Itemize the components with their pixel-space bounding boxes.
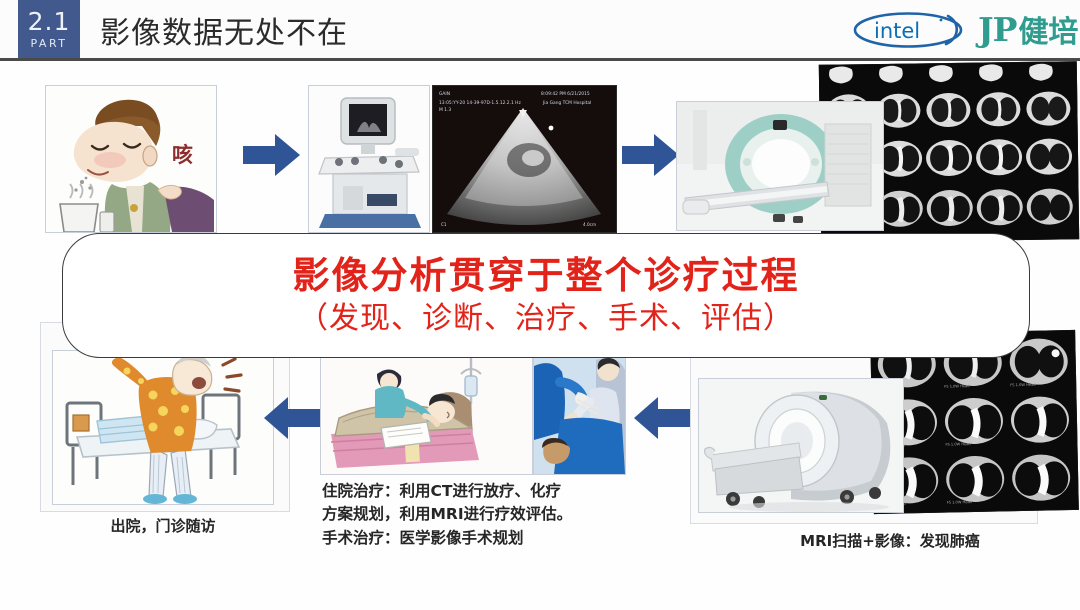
image-inpatient-cartoon	[320, 355, 533, 475]
image-ultrasound-machine	[308, 85, 430, 233]
callout-line-2: （发现、诊断、治疗、手术、评估）	[298, 302, 794, 335]
image-surgery-cartoon	[533, 355, 626, 475]
svg-text:FS 1.0W Head: FS 1.0W Head	[945, 442, 970, 447]
svg-text:intel: intel	[874, 19, 920, 43]
svg-text:FS 1.0W Head: FS 1.0W Head	[1010, 383, 1035, 388]
header-divider	[0, 58, 1080, 61]
svg-text:C1: C1	[441, 222, 447, 227]
arrow-right-1	[243, 132, 301, 178]
jp-logo-text: 健培	[1018, 7, 1078, 51]
image-ultrasound-scan: GAIN 13:05:YY-20 14-39-97D-1.5.12.2.1 Hz…	[432, 85, 617, 233]
callout-line-1: 影像分析贯穿于整个诊疗过程	[293, 256, 800, 296]
image-ct-scanner	[676, 101, 884, 231]
intel-logo: intel	[852, 10, 964, 50]
svg-text:M 1.3: M 1.3	[439, 107, 451, 113]
page-title: 影像数据无处不在	[100, 8, 348, 52]
caption-discharge: 出院，门诊随访	[48, 515, 278, 538]
caption-treatment-line-3: 手术治疗：医学影像手术规划	[322, 527, 642, 550]
svg-text:FS 1.0W Head: FS 1.0W Head	[944, 384, 969, 389]
svg-text:4.0cm: 4.0cm	[583, 222, 596, 227]
svg-text:Jia Gang TCM Hospital: Jia Gang TCM Hospital	[542, 100, 591, 106]
caption-treatment-line-1: 住院治疗：利用CT进行放疗、化疗	[322, 480, 642, 503]
svg-text:8:09:42 PM 6/21/2015: 8:09:42 PM 6/21/2015	[541, 91, 590, 97]
image-discharge-cartoon	[52, 350, 274, 505]
caption-mri: MRI扫描+影像：发现肺癌	[760, 530, 1020, 553]
svg-text:GAIN: GAIN	[439, 91, 450, 97]
slide-header: 2.1 PART 影像数据无处不在 intel JP 健培	[0, 0, 1080, 60]
arrow-left-2	[633, 394, 691, 442]
image-symptom-cartoon: 咳	[45, 85, 217, 233]
svg-text:FS 1.0W Head: FS 1.0W Head	[947, 500, 972, 505]
callout-box: 影像分析贯穿于整个诊疗过程 （发现、诊断、治疗、手术、评估）	[62, 233, 1030, 358]
arrow-left-1	[263, 394, 321, 442]
slide-root: 2.1 PART 影像数据无处不在 intel JP 健培	[0, 0, 1080, 610]
part-number: 2.1	[28, 9, 71, 34]
caption-treatment-line-2: 方案规划，利用MRI进行疗效评估。	[322, 503, 642, 526]
svg-text:13:05:YY-20 14-39-97D-1.5.12.2: 13:05:YY-20 14-39-97D-1.5.12.2.1 Hz	[439, 100, 521, 106]
caption-treatment: 住院治疗：利用CT进行放疗、化疗 方案规划，利用MRI进行疗效评估。 手术治疗：…	[322, 480, 642, 550]
part-badge: 2.1 PART	[18, 0, 80, 58]
cough-sound-text: 咳	[172, 143, 193, 167]
jp-jianpei-logo: JP 健培	[978, 8, 1078, 50]
part-label: PART	[30, 38, 67, 49]
image-mri-scanner	[698, 378, 904, 513]
arrow-right-2	[622, 132, 680, 178]
jp-logo-mark: JP	[978, 10, 1016, 49]
